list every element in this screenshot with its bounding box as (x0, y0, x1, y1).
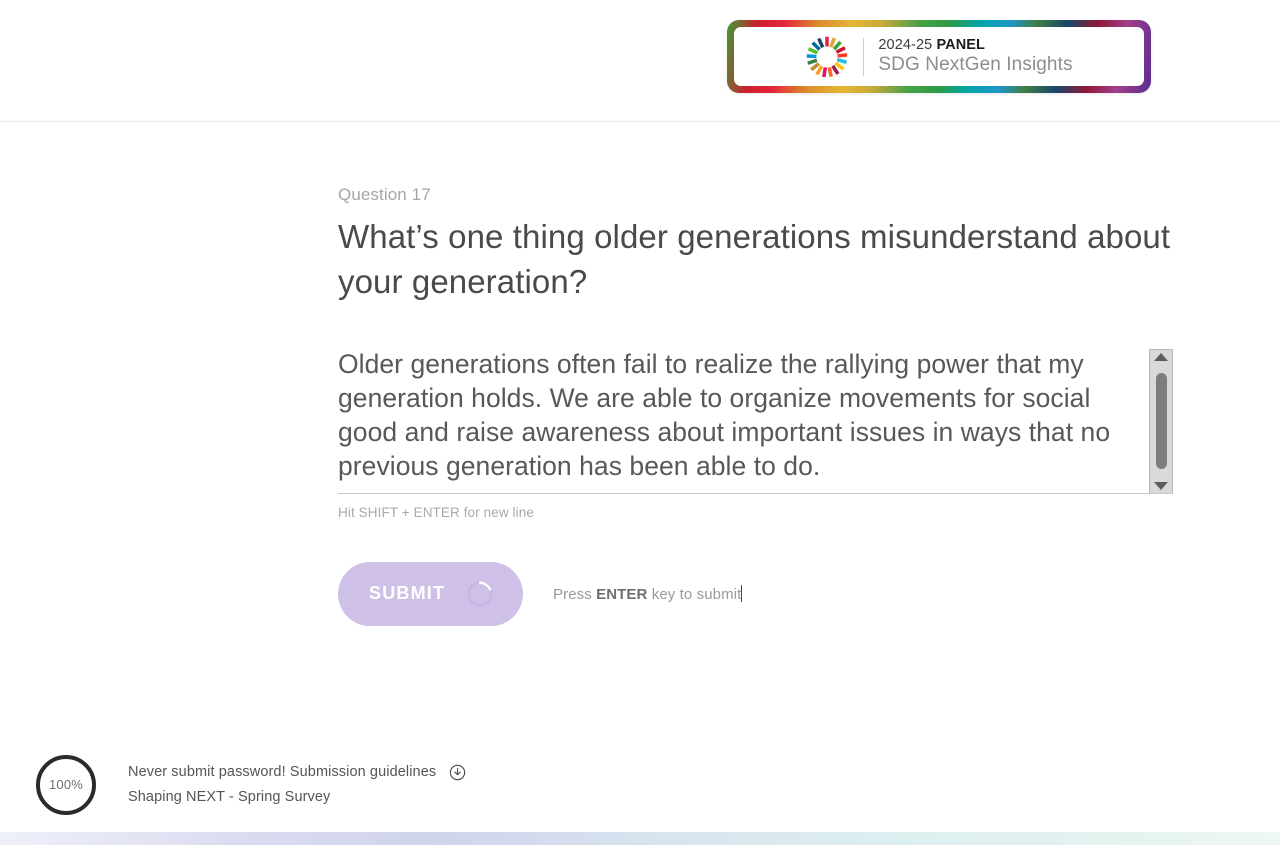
answer-text-value: Older generations often fail to realize … (338, 347, 1138, 483)
press-enter-prefix: Press (553, 586, 596, 603)
press-enter-hint: Press ENTER key to submit (553, 585, 742, 603)
brand-divider (863, 38, 864, 76)
progress-ring: 100% (36, 755, 96, 815)
question-number: Question 17 (338, 185, 1238, 205)
submit-button-label: SUBMIT (369, 583, 445, 604)
brand-subtitle: SDG NextGen Insights (878, 54, 1072, 76)
answer-textarea[interactable]: Older generations often fail to realize … (338, 347, 1173, 494)
footer-notice[interactable]: Never submit password! Submission guidel… (128, 760, 436, 785)
question-form: Question 17 What’s one thing older gener… (338, 185, 1238, 626)
footer-text-block: Never submit password! Submission guidel… (128, 760, 466, 810)
loading-spinner-icon (465, 579, 495, 609)
brand-year: 2024-25 (878, 37, 936, 53)
new-line-hint: Hit SHIFT + ENTER for new line (338, 505, 1173, 520)
submit-button[interactable]: SUBMIT (338, 562, 523, 626)
brand-badge: 2024-25 PANEL SDG NextGen Insights (727, 20, 1151, 93)
brand-text: 2024-25 PANEL SDG NextGen Insights (878, 37, 1072, 77)
brand-panel-word: PANEL (936, 37, 985, 53)
sdg-color-wheel-icon (805, 35, 849, 79)
press-enter-suffix: key to submit (647, 586, 741, 603)
scrollbar-thumb[interactable] (1156, 373, 1167, 469)
triangle-up-icon[interactable] (1154, 353, 1168, 361)
footer-survey-name: Shaping NEXT - Spring Survey (128, 785, 466, 810)
brand-badge-inner: 2024-25 PANEL SDG NextGen Insights (734, 27, 1144, 86)
press-enter-key: ENTER (596, 586, 647, 603)
bottom-gradient-bar (0, 832, 1280, 845)
footer-notice-row: Never submit password! Submission guidel… (128, 760, 466, 785)
triangle-down-icon[interactable] (1154, 482, 1168, 490)
page-header: 2024-25 PANEL SDG NextGen Insights (0, 0, 1280, 122)
answer-field-wrapper: Older generations often fail to realize … (338, 347, 1173, 520)
question-title: What’s one thing older generations misun… (338, 215, 1228, 305)
circle-down-arrow-icon[interactable] (449, 764, 466, 781)
main-content: Question 17 What’s one thing older gener… (0, 122, 1280, 845)
text-caret (741, 585, 742, 602)
brand-year-panel: 2024-25 PANEL (878, 37, 1072, 54)
answer-scrollbar[interactable] (1149, 349, 1173, 494)
submit-row: SUBMIT Press ENTER key to submit (338, 562, 1238, 626)
progress-percent: 100% (49, 777, 83, 792)
page-footer: 100% Never submit password! Submission g… (0, 737, 1280, 832)
